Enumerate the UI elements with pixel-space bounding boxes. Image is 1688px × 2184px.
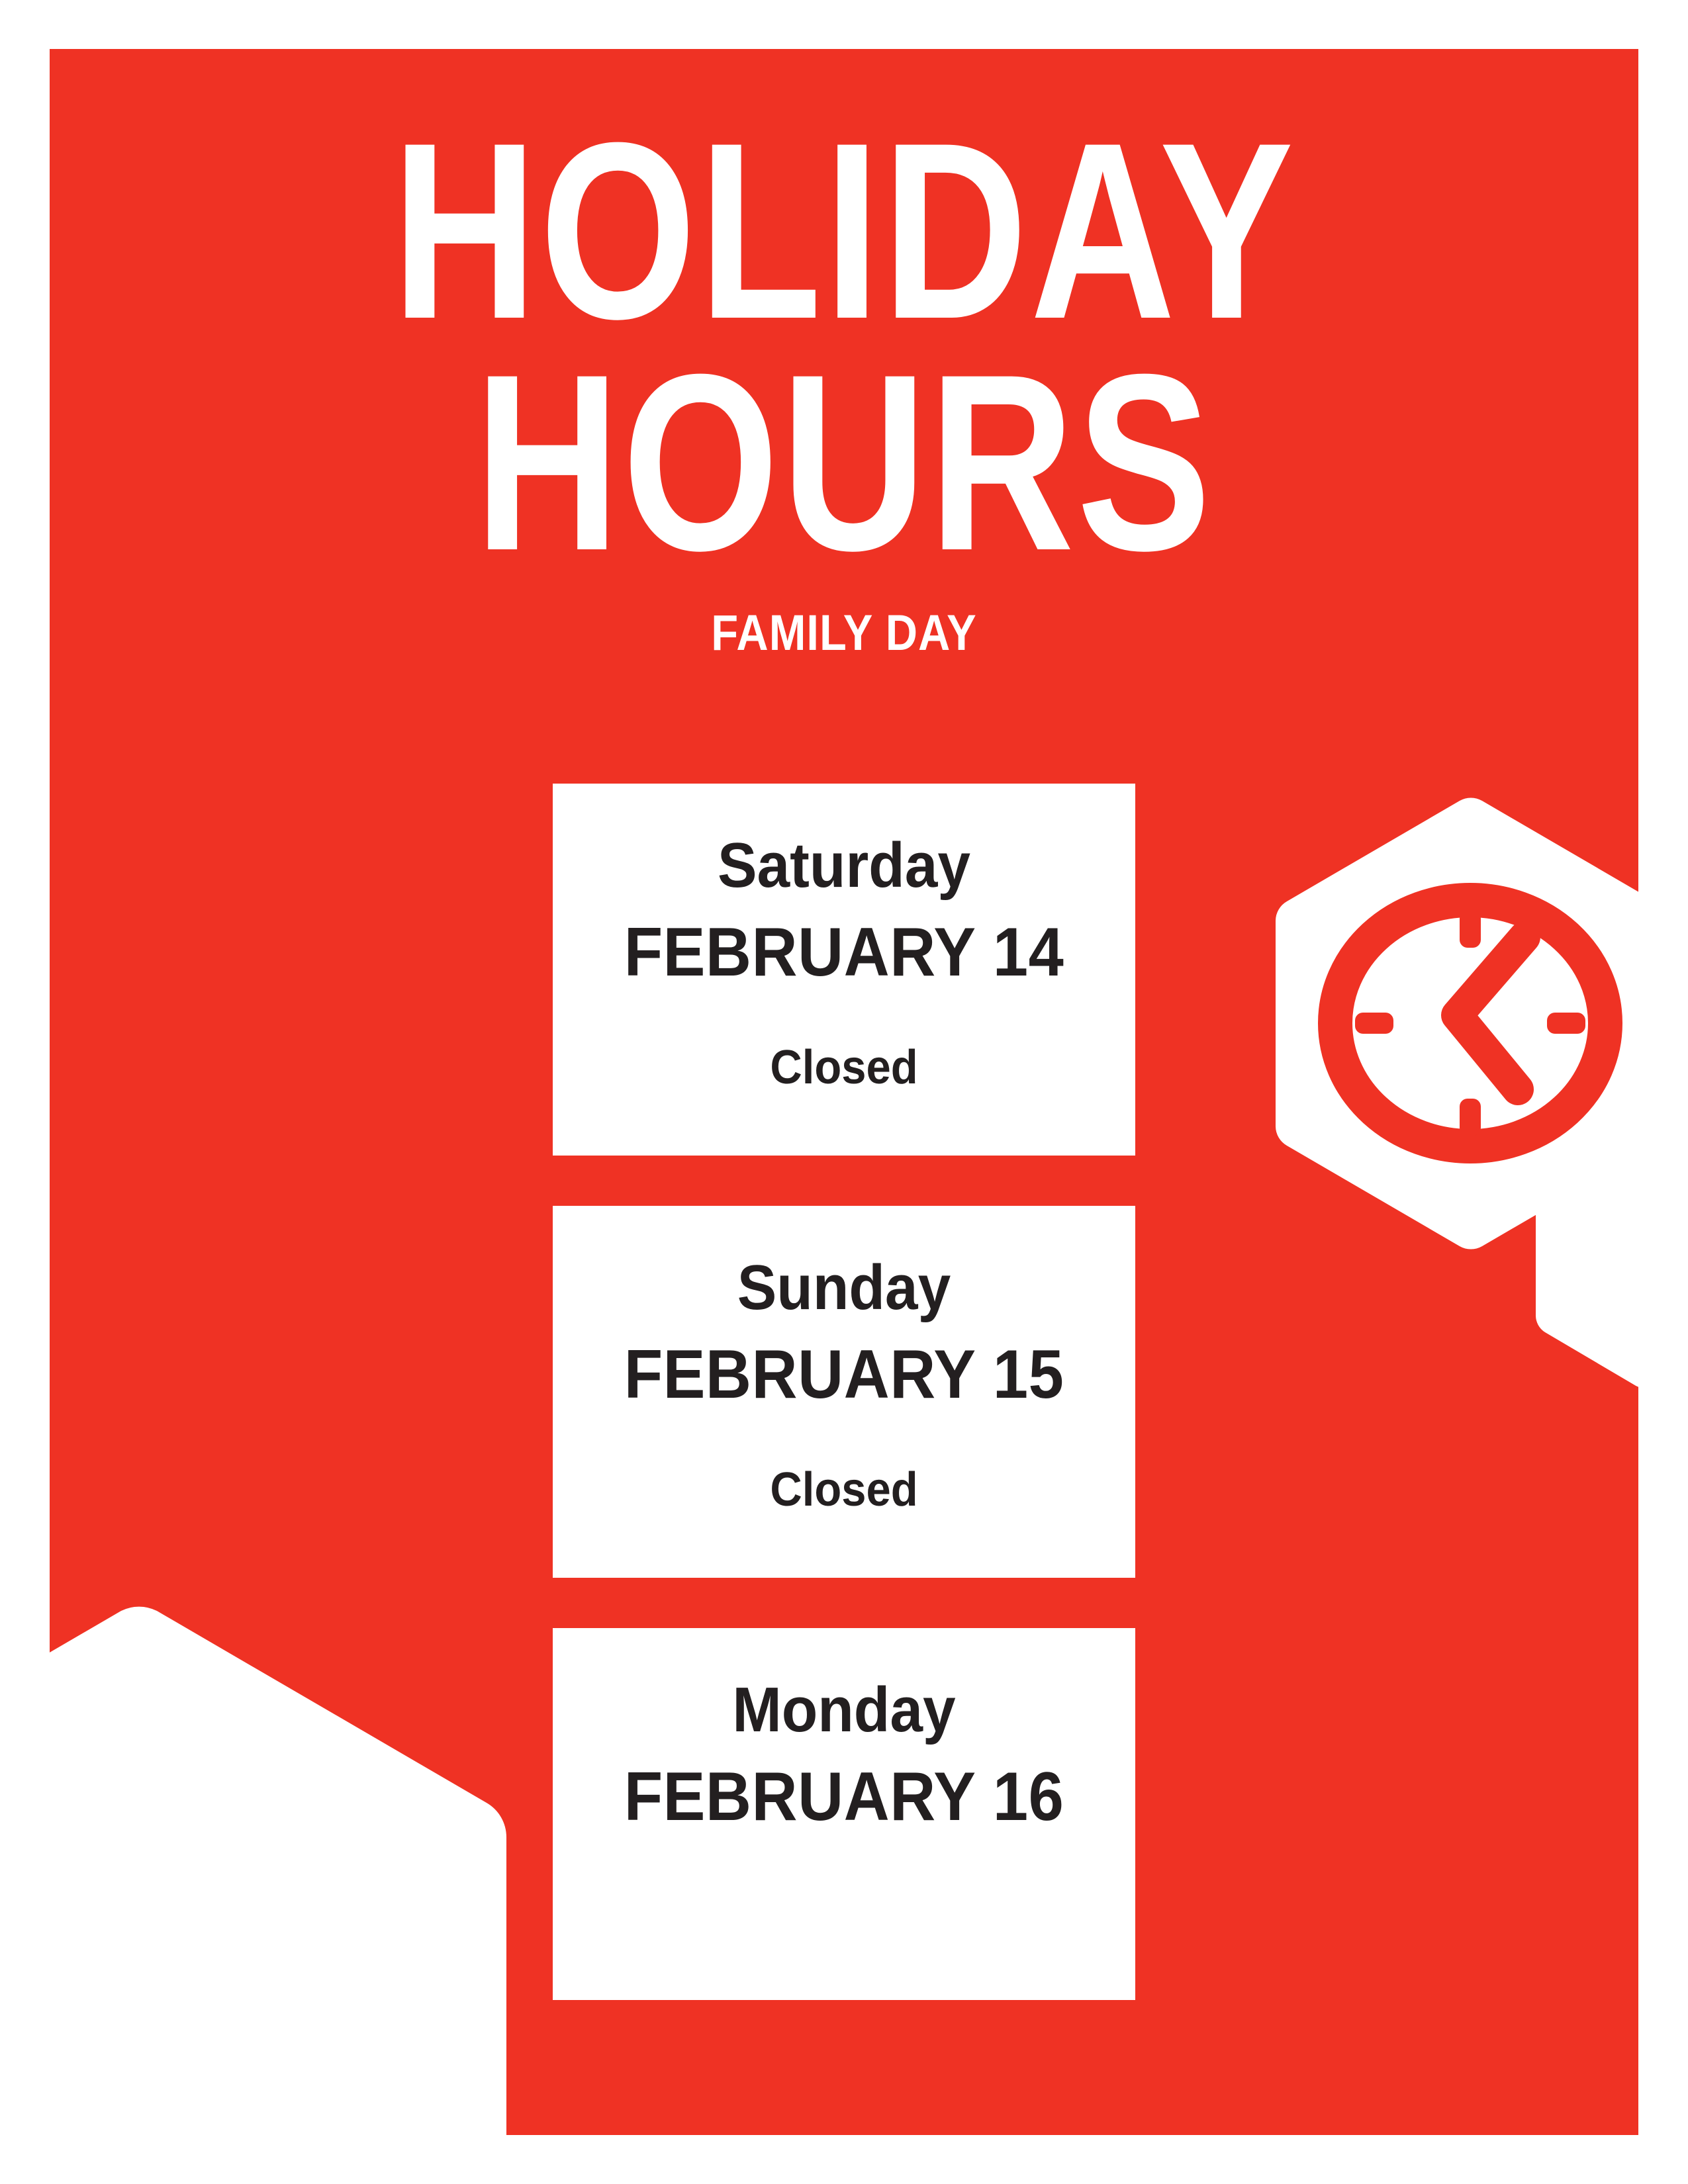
schedule-card: Monday FEBRUARY 16 bbox=[553, 1628, 1135, 2000]
day-date: FEBRUARY 14 bbox=[576, 917, 1112, 989]
page-subtitle: FAMILY DAY bbox=[145, 608, 1543, 659]
day-name: Monday bbox=[573, 1677, 1115, 1744]
day-date: FEBRUARY 16 bbox=[576, 1761, 1112, 1833]
day-status: Closed bbox=[573, 1465, 1115, 1516]
schedule-card-list: Saturday FEBRUARY 14 Closed Sunday FEBRU… bbox=[553, 784, 1135, 2050]
page-title-line-1: HOLIDAY bbox=[209, 115, 1479, 347]
hexagon-shape-small bbox=[1536, 1138, 1638, 1388]
poster-header: HOLIDAY HOURS FAMILY DAY bbox=[50, 115, 1638, 659]
holiday-hours-poster: HOLIDAY HOURS FAMILY DAY Saturday FEBRUA… bbox=[0, 0, 1688, 2184]
page-title-line-2: HOURS bbox=[209, 347, 1479, 578]
day-name: Saturday bbox=[573, 833, 1115, 899]
day-name: Sunday bbox=[573, 1255, 1115, 1322]
day-date: FEBRUARY 15 bbox=[576, 1339, 1112, 1411]
day-status: Closed bbox=[573, 1043, 1115, 1093]
schedule-card: Saturday FEBRUARY 14 Closed bbox=[553, 784, 1135, 1156]
schedule-card: Sunday FEBRUARY 15 Closed bbox=[553, 1206, 1135, 1578]
poster-background-panel: HOLIDAY HOURS FAMILY DAY Saturday FEBRUA… bbox=[50, 49, 1638, 2135]
day-status bbox=[573, 1888, 1115, 1938]
hexagon-shape-corner bbox=[50, 1604, 526, 2135]
